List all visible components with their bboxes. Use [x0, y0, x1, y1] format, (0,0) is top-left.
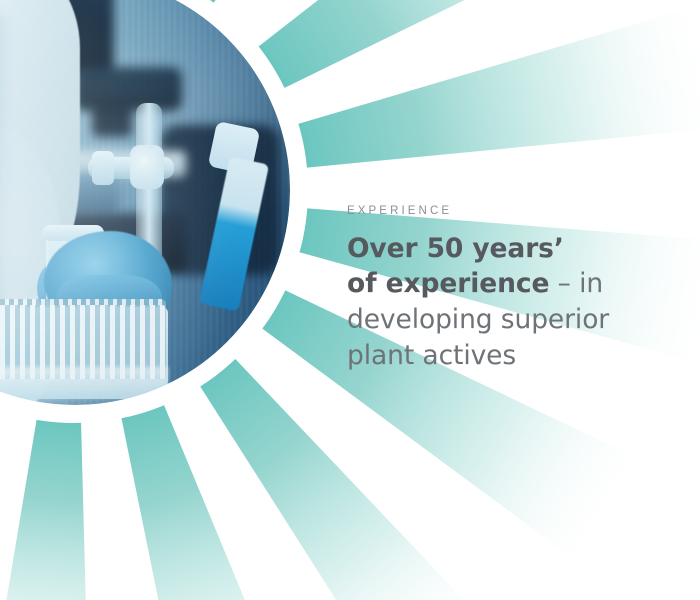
- lab-photo-circle: [0, 0, 290, 405]
- banner-stage: EXPERIENCE Over 50 years’ of experience …: [0, 0, 700, 600]
- headline-bold-line-1: Over 50 years’: [347, 233, 564, 264]
- photo-highlight: [0, 0, 290, 405]
- lab-photo: [0, 0, 290, 405]
- eyebrow-label: EXPERIENCE: [347, 206, 677, 218]
- page-title: Over 50 years’ of experience – in develo…: [347, 231, 677, 375]
- banner-text-block: EXPERIENCE Over 50 years’ of experience …: [347, 206, 677, 374]
- headline-bold-line-2: of experience: [347, 268, 549, 299]
- sunburst-ray-9: [0, 417, 109, 600]
